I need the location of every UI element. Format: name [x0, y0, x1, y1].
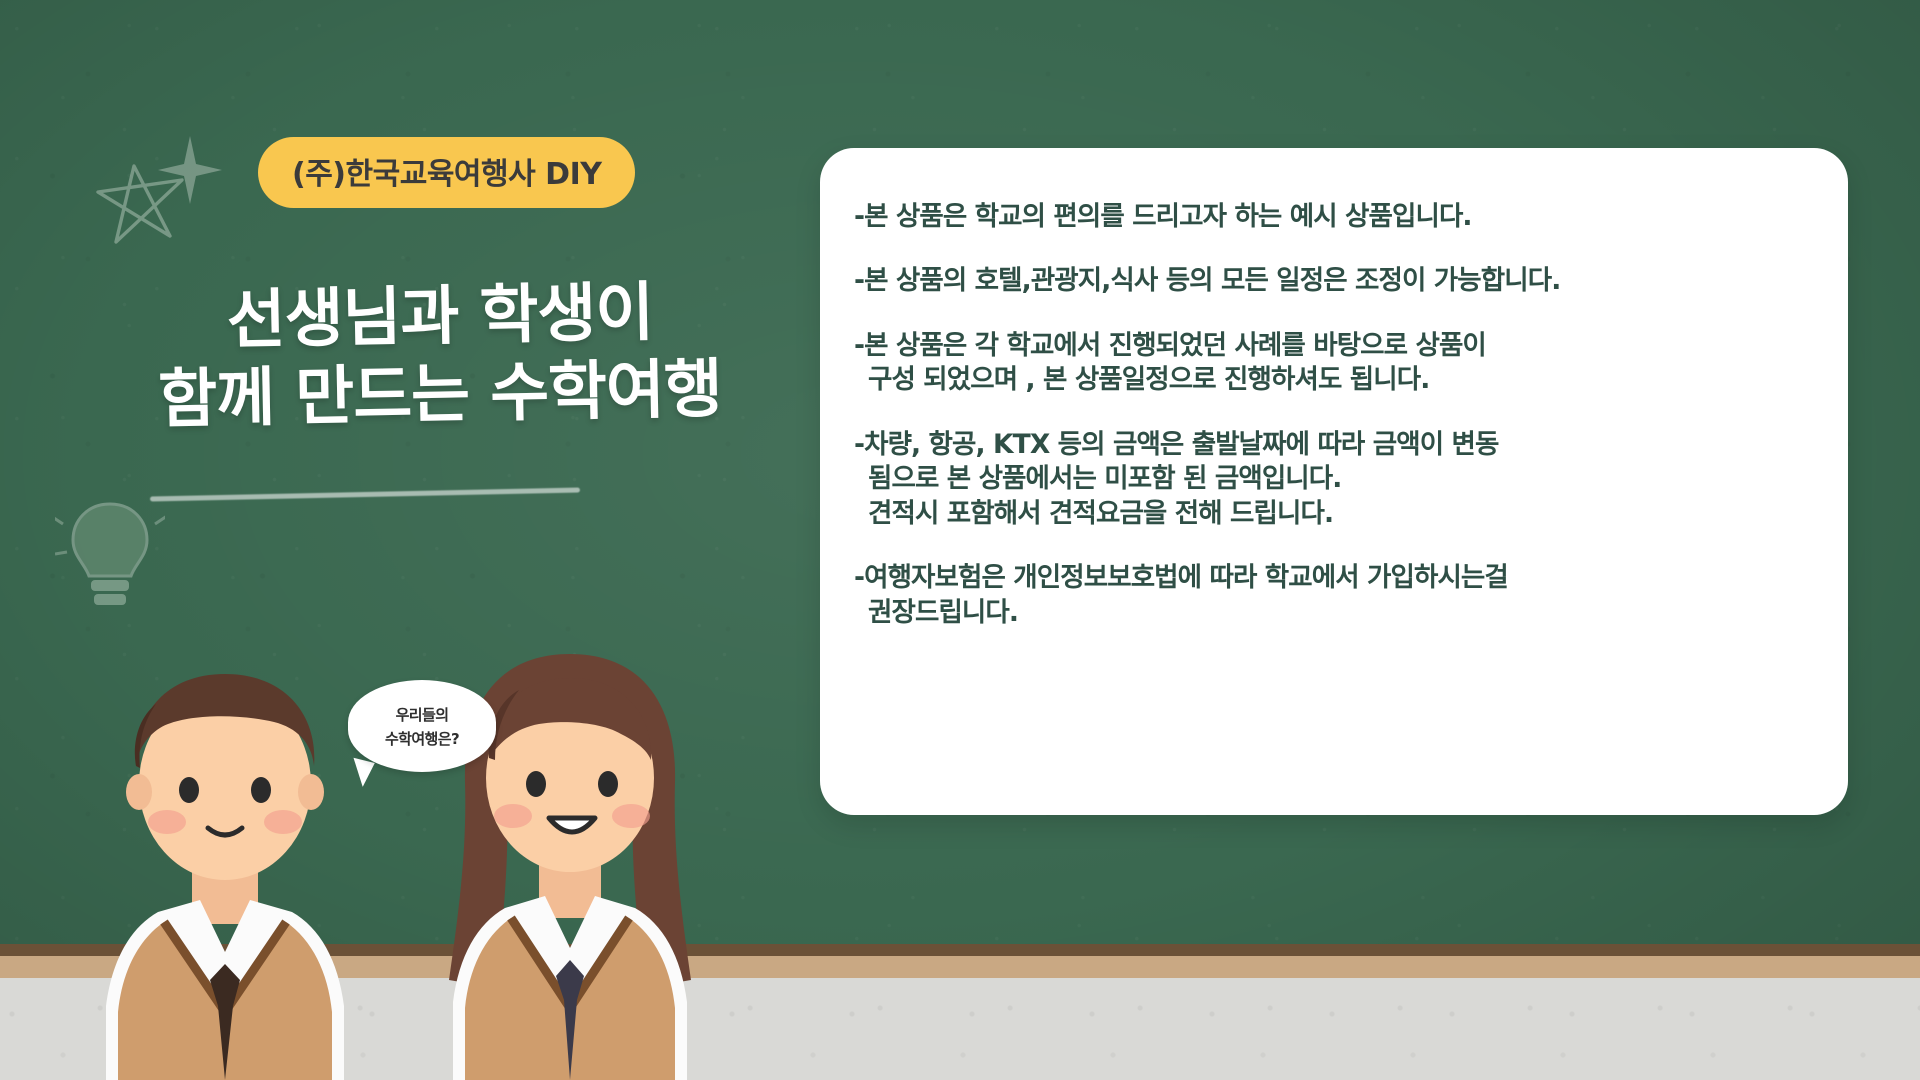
note-bullet: -본 상품은 각 학교에서 진행되었던 사례를 바탕으로 상품이 구성 되었으며…: [854, 329, 1806, 398]
chalk-sparkle-doodle: [150, 130, 230, 210]
note-bullet: -본 상품의 호텔,관광지,식사 등의 모든 일정은 조정이 가능합니다.: [854, 264, 1806, 298]
note-line: 구성 되었으며 , 본 상품일정으로 진행하셔도 됩니다.: [854, 363, 1806, 397]
note-line: -본 상품은 각 학교에서 진행되었던 사례를 바탕으로 상품이: [854, 330, 1486, 361]
note-line: 견적시 포함해서 견적요금을 전해 드립니다.: [854, 497, 1806, 531]
male-student-illustration: [60, 560, 390, 1080]
slide-canvas: (주)한국교육여행사 DIY 선생님과 학생이 함께 만드는 수학여행 -본 상…: [0, 0, 1920, 1080]
note-line: 됨으로 본 상품에서는 미포함 된 금액입니다.: [854, 462, 1806, 496]
note-bullet: -차량, 항공, KTX 등의 금액은 출발날짜에 따라 금액이 변동 됨으로 …: [854, 428, 1806, 531]
slide-title: 선생님과 학생이 함께 만드는 수학여행: [80, 278, 800, 434]
notes-card: -본 상품은 학교의 편의를 드리고자 하는 예시 상품입니다. -본 상품의 …: [820, 148, 1848, 815]
female-student-illustration: [405, 550, 735, 1080]
speech-bubble-line-1: 우리들의: [396, 704, 449, 725]
note-line: -차량, 항공, KTX 등의 금액은 출발날짜에 따라 금액이 변동: [854, 429, 1498, 460]
note-bullet: -여행자보험은 개인정보보호법에 따라 학교에서 가입하시는걸 권장드립니다.: [854, 561, 1806, 630]
speech-bubble: 우리들의 수학여행은?: [348, 680, 496, 772]
note-bullet: -본 상품은 학교의 편의를 드리고자 하는 예시 상품입니다.: [854, 200, 1806, 234]
note-line: -여행자보험은 개인정보보호법에 따라 학교에서 가입하시는걸: [854, 562, 1508, 593]
speech-bubble-line-2: 수학여행은?: [385, 728, 459, 749]
note-line: -본 상품의 호텔,관광지,식사 등의 모든 일정은 조정이 가능합니다.: [854, 265, 1560, 296]
note-line: -본 상품은 학교의 편의를 드리고자 하는 예시 상품입니다.: [854, 201, 1472, 232]
note-line: 권장드립니다.: [854, 596, 1806, 630]
title-line-2: 함께 만드는 수학여행: [79, 349, 800, 441]
chalk-underline: [150, 487, 580, 501]
company-badge: (주)한국교육여행사 DIY: [258, 137, 635, 208]
company-badge-label: (주)한국교육여행사 DIY: [292, 157, 601, 192]
title-line-1: 선생님과 학생이: [79, 271, 800, 363]
